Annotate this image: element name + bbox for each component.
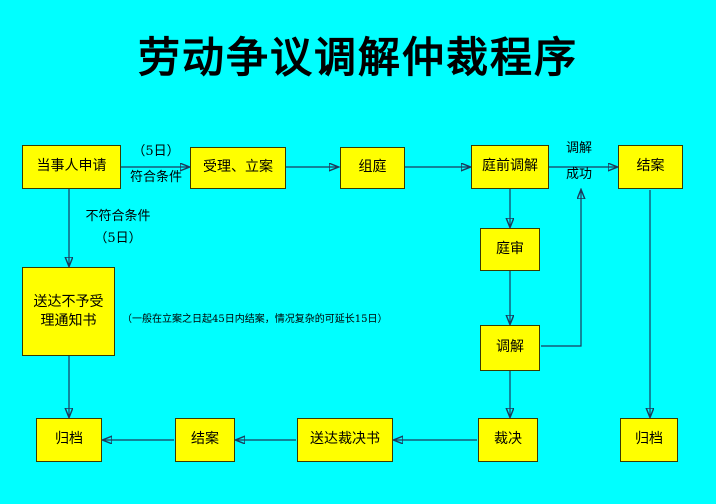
edge-label-mediation-success-line2: 成功 xyxy=(554,167,604,183)
node-court-hearing-label: 庭审 xyxy=(496,241,524,259)
node-close-case-bottom[interactable]: 结案 xyxy=(175,418,235,462)
note-case-duration: （一般在立案之日起45日内结案，情况复杂的可延长15日） xyxy=(122,310,387,325)
edge-label-meets-conditions: 符合条件 xyxy=(120,170,192,186)
node-accept-case[interactable]: 受理、立案 xyxy=(190,147,286,189)
edge-label-not-meets-conditions-text: 不符合条件 xyxy=(85,209,150,224)
edge-label-five-days-text: （5日） xyxy=(132,144,179,159)
node-serve-award[interactable]: 送达裁决书 xyxy=(297,418,393,462)
node-close-case-top[interactable]: 结案 xyxy=(618,145,683,189)
note-case-duration-text: （一般在立案之日起45日内结案，情况复杂的可延长15日） xyxy=(122,314,387,325)
node-award[interactable]: 裁决 xyxy=(478,418,538,462)
node-notice-of-refusal[interactable]: 送达不予受 理通知书 xyxy=(22,267,115,356)
node-applicant-label: 当事人申请 xyxy=(37,158,107,176)
edge-label-mediation-success-line1: 调解 xyxy=(554,141,604,157)
node-archive-right[interactable]: 归档 xyxy=(620,418,678,462)
edge-label-five-days: （5日） xyxy=(124,144,188,160)
node-court-hearing[interactable]: 庭审 xyxy=(480,228,540,271)
edge-label-mediation-success: 调解 成功 xyxy=(554,141,604,182)
edge-mediation-success-return xyxy=(541,190,581,346)
node-archive-left-label: 归档 xyxy=(55,431,83,449)
node-mediation[interactable]: 调解 xyxy=(480,325,540,371)
flowchart-canvas: 劳动争议调解仲裁程序 xyxy=(0,0,716,504)
edge-label-not-meets-conditions: 不符合条件 xyxy=(72,209,164,225)
node-close-case-top-label: 结案 xyxy=(637,158,665,176)
edge-label-not-meets-days: （5日） xyxy=(72,231,164,247)
node-applicant[interactable]: 当事人申请 xyxy=(22,145,121,189)
node-form-tribunal[interactable]: 组庭 xyxy=(340,147,405,189)
node-notice-of-refusal-line1: 送达不予受 xyxy=(34,293,104,312)
node-close-case-bottom-label: 结案 xyxy=(191,431,219,449)
node-serve-award-label: 送达裁决书 xyxy=(310,431,380,449)
node-archive-left[interactable]: 归档 xyxy=(36,418,102,462)
node-mediation-label: 调解 xyxy=(496,339,524,357)
edge-label-not-meets-days-text: （5日） xyxy=(94,231,141,246)
node-pre-trial-mediation[interactable]: 庭前调解 xyxy=(471,145,549,189)
node-notice-of-refusal-line2: 理通知书 xyxy=(41,312,97,331)
node-pre-trial-mediation-label: 庭前调解 xyxy=(482,158,538,176)
edge-label-meets-conditions-text: 符合条件 xyxy=(130,170,182,185)
node-form-tribunal-label: 组庭 xyxy=(359,159,387,177)
node-archive-right-label: 归档 xyxy=(635,431,663,449)
node-accept-case-label: 受理、立案 xyxy=(203,159,273,177)
node-award-label: 裁决 xyxy=(494,431,522,449)
